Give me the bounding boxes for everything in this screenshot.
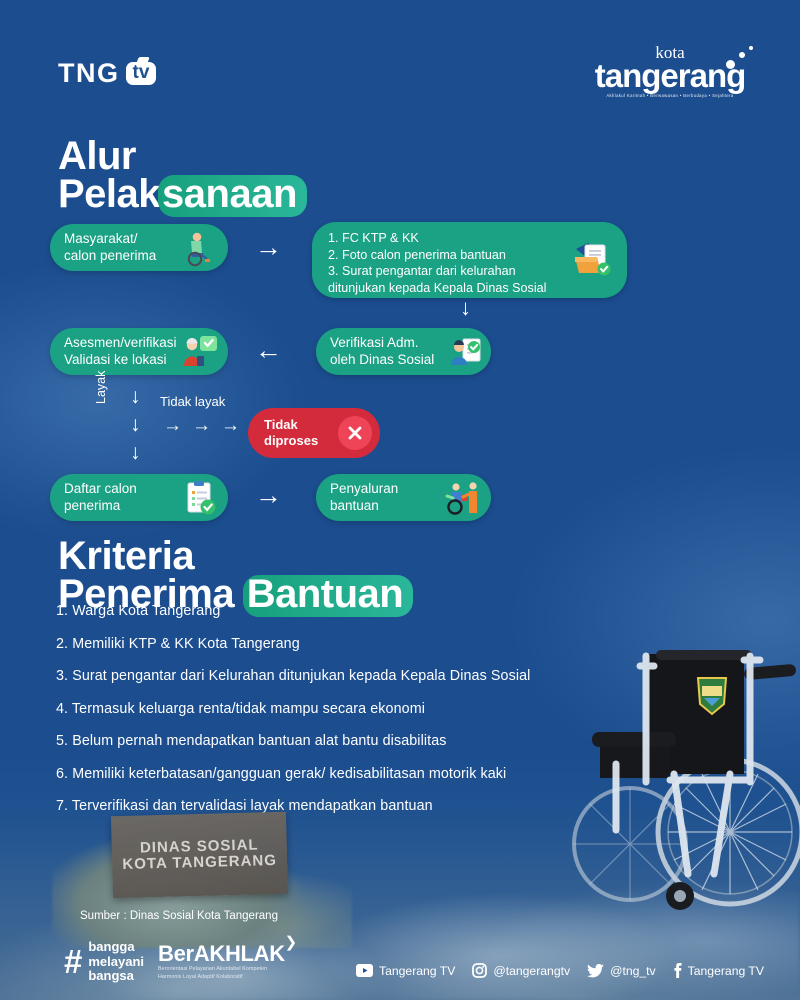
flow-step-rejected: Tidak diproses	[248, 408, 380, 458]
social-youtube[interactable]: Tangerang TV	[356, 964, 455, 978]
arrow-down-1: ↓	[460, 297, 471, 319]
wheelchair-user-icon	[180, 229, 218, 267]
flow-step-masyarakat-label: Masyarakat/ calon penerima	[64, 231, 156, 265]
list-item: 2. Memiliki KTP & KK Kota Tangerang	[56, 636, 656, 652]
social-instagram-label: @tangerangtv	[493, 964, 570, 978]
arrow-left-1: ←	[255, 337, 282, 364]
social-instagram[interactable]: @tangerangtv	[472, 963, 570, 978]
instagram-icon	[472, 963, 487, 978]
arrow-right-1: →	[255, 234, 282, 261]
handover-icon	[443, 478, 483, 518]
flow-title-highlight: sanaan	[158, 175, 307, 217]
chevron-icon: ❯	[285, 935, 297, 950]
flow-step-documents-label: 1. FC KTP & KK 2. Foto calon penerima ba…	[328, 230, 546, 296]
flow-step-rejected-label: Tidak diproses	[264, 417, 318, 448]
flow-step-asesmen: Asesmen/verifikasi Validasi ke lokasi	[50, 328, 228, 375]
kota-tangerang-logo: kota tangerang Akhlakul Karimah • Berwaw…	[590, 44, 750, 98]
list-item: 3. Surat pengantar dari Kelurahan ditunj…	[56, 668, 656, 684]
flow-step-daftar-label: Daftar calon penerima	[64, 481, 137, 515]
facebook-icon	[673, 963, 682, 978]
flow-step-penyaluran: Penyaluran bantuan	[316, 474, 491, 521]
flow-step-daftar: Daftar calon penerima	[50, 474, 228, 521]
flow-step-documents: 1. FC KTP & KK 2. Foto calon penerima ba…	[312, 222, 627, 298]
list-item: 5. Belum pernah mendapatkan bantuan alat…	[56, 733, 656, 749]
label-layak: Layak	[94, 371, 108, 404]
flow-step-verifikasi-adm-label: Verifikasi Adm. oleh Dinas Sosial	[330, 335, 434, 369]
arrow-down-layak-3: ↓	[130, 442, 141, 463]
social-youtube-label: Tangerang TV	[379, 964, 455, 978]
source-text: Sumber : Dinas Sosial Kota Tangerang	[80, 910, 278, 922]
list-item: 6. Memiliki keterbatasan/gangguan gerak/…	[56, 766, 656, 782]
flow-step-masyarakat: Masyarakat/ calon penerima	[50, 224, 228, 271]
social-twitter[interactable]: @tng_tv	[587, 964, 656, 978]
arrow-right-reject-3: →	[221, 416, 240, 435]
dinas-sosial-sign: DINAS SOSIAL KOTA TANGERANG	[111, 812, 288, 899]
social-links: Tangerang TV @tangerangtv @tng_tv Tanger…	[356, 963, 764, 978]
list-item: 4. Termasuk keluarga renta/tidak mampu s…	[56, 701, 656, 717]
bangga-label: bangga melayani bangsa	[88, 940, 144, 984]
tv-badge: tv	[126, 62, 157, 85]
x-circle-icon	[338, 416, 372, 450]
arrow-right-reject-1: →	[163, 416, 182, 435]
berakhlak-text: BerAKHLAK	[158, 941, 285, 966]
berakhlak-title: BerAKHLAK❯	[158, 943, 285, 965]
page-title-flow: Alur Pelaksanaan	[58, 137, 307, 217]
documents-check-icon	[569, 237, 615, 283]
survey-check-icon	[180, 332, 220, 372]
arrow-down-layak-1: ↓	[130, 386, 141, 407]
sign-line2: KOTA TANGERANG	[122, 853, 277, 874]
crit-title-line1: Kriteria	[58, 537, 413, 575]
berakhlak-logo: BerAKHLAK❯ Berorientasi Pelayanan Akunta…	[158, 943, 285, 982]
arrow-right-3: →	[255, 482, 282, 509]
social-facebook[interactable]: Tangerang TV	[673, 963, 764, 978]
berakhlak-tagline: Berorientasi Pelayanan Akuntabel Kompete…	[158, 966, 285, 982]
flow-step-verifikasi-adm: Verifikasi Adm. oleh Dinas Sosial	[316, 328, 491, 375]
flow-title-line1: Alur	[58, 137, 307, 175]
flow-step-penyaluran-label: Penyaluran bantuan	[330, 481, 398, 515]
tng-text: TNG	[58, 58, 120, 89]
kota-tagline: Akhlakul Karimah • Berwawasan • Berbuday…	[590, 93, 750, 98]
criteria-list: 1. Warga Kota Tangerang 2. Memiliki KTP …	[56, 603, 656, 831]
tng-tv-logo: TNG tv	[58, 58, 156, 89]
label-tidak-layak: Tidak layak	[160, 394, 225, 409]
social-facebook-label: Tangerang TV	[688, 964, 764, 978]
clipboard-person-icon	[447, 334, 483, 370]
flow-title-plain: Pelak	[58, 172, 160, 216]
social-twitter-label: @tng_tv	[610, 964, 656, 978]
flow-title-line2: Pelaksanaan	[58, 175, 307, 217]
bangga-melayani-bangsa-logo: # bangga melayani bangsa	[64, 940, 144, 984]
twitter-icon	[587, 964, 604, 978]
youtube-icon	[356, 964, 373, 977]
wheelchair-photo	[570, 614, 800, 914]
arrow-right-reject-2: →	[192, 416, 211, 435]
hash-icon: #	[64, 948, 82, 976]
list-item: 7. Terverifikasi dan tervalidasi layak m…	[56, 798, 656, 814]
list-item: 1. Warga Kota Tangerang	[56, 603, 656, 619]
flow-step-asesmen-label: Asesmen/verifikasi Validasi ke lokasi	[64, 335, 177, 369]
arrow-down-layak-2: ↓	[130, 414, 141, 435]
checklist-icon	[180, 479, 218, 517]
